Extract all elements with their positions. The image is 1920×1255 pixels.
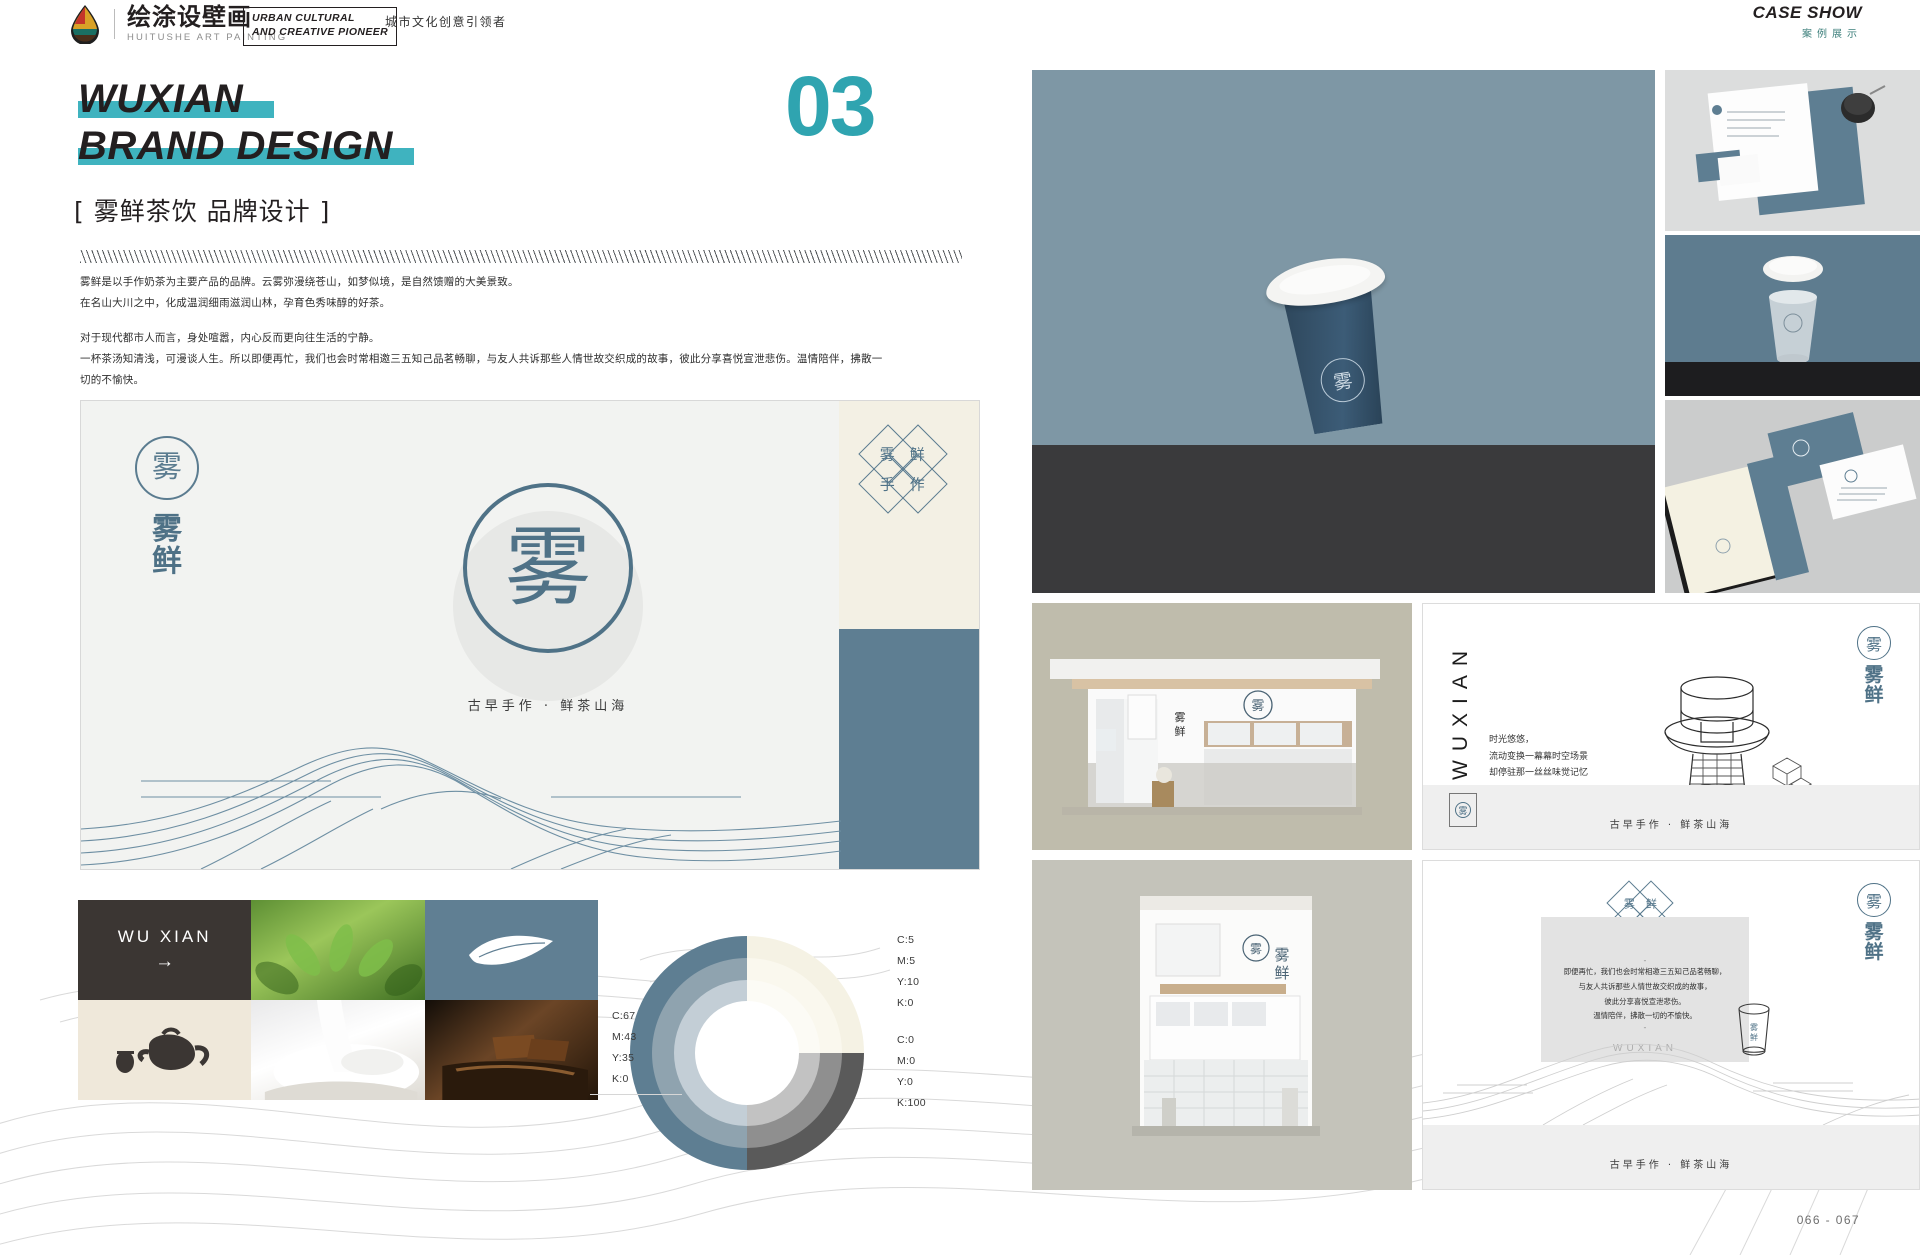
hero-blue-panel xyxy=(839,629,979,869)
svg-text:雾: 雾 xyxy=(1274,946,1289,964)
svg-text:雾: 雾 xyxy=(1175,711,1186,724)
takeaway-cup: 雾 xyxy=(1260,237,1407,438)
page-header: 绘涂设壁画 HUITUSHE ART PAINTING URBAN CULTUR… xyxy=(0,0,1920,50)
storefront-elevation-shapes: 雾 雾 鲜 xyxy=(1032,603,1412,850)
card-poem: 时光悠悠， 流动变换一幕幕时空场景 却停驻那一丝丝味觉记忆 xyxy=(1489,732,1588,782)
mockup-notebook-cards xyxy=(1665,400,1920,593)
hero-mini-logo: 雾 雾 鲜 xyxy=(121,436,213,577)
slogan-box: URBAN CULTURAL AND CREATIVE PIONEER xyxy=(243,7,397,46)
arrow-right-icon: → xyxy=(155,951,174,973)
hatched-divider xyxy=(80,250,962,263)
wuxian-wordmark-text: WU XIAN xyxy=(118,927,212,947)
body-copy: 雾鲜是以手作奶茶为主要产品的品牌。云雾弥漫绕苍山，如梦似境，是自然馈赠的大美景致… xyxy=(80,272,960,405)
storefront-facade-shapes: 雾 雾 鲜 xyxy=(1032,860,1412,1190)
section-number: 03 xyxy=(785,58,874,155)
leader-line-left xyxy=(590,1094,682,1095)
hero-diamond-lockup: 雾 鲜 手 作 xyxy=(867,433,951,517)
mockup-takeaway-cup: 雾 xyxy=(1032,70,1655,593)
body-paragraph-1: 雾鲜是以手作奶茶为主要产品的品牌。云雾弥漫绕苍山，如梦似境，是自然馈赠的大美景致… xyxy=(80,272,960,314)
card-brand-quote: 雾 鲜 手 作 - 即便再忙，我们也会时常相邀三五知己品茗畅聊， 与友人共诉那些… xyxy=(1422,860,1920,1190)
card-seal-icon: 雾 xyxy=(1857,626,1891,660)
stationery-shapes xyxy=(1665,70,1920,231)
slogan-en-line1: URBAN CULTURAL xyxy=(252,12,388,26)
tile-teapot-icon xyxy=(78,1000,251,1100)
swatch-label-black: C:0 M:0 Y:0 K:100 xyxy=(897,1030,926,1114)
svg-text:鲜: 鲜 xyxy=(1274,964,1289,982)
mockup-cold-cup xyxy=(1665,235,1920,396)
page-title: WUXIAN BRAND DESIGN xyxy=(78,78,393,172)
svg-text:雾: 雾 xyxy=(1251,699,1264,714)
tile-wuxian-wordmark: WU XIAN → xyxy=(78,900,251,1000)
tile-brown-sugar-photo xyxy=(425,1000,598,1100)
mood-board-grid: WU XIAN → xyxy=(78,900,598,1100)
page-subtitle: [ 雾鲜茶饮 品牌设计 ] xyxy=(74,192,330,228)
tile-milk-pour-photo xyxy=(251,1000,424,1100)
svg-text:雾: 雾 xyxy=(1750,1023,1758,1032)
cold-cup-floor xyxy=(1665,362,1920,396)
calligraphy-brandname: 雾 鲜 xyxy=(121,514,213,577)
card-seal-lockup: 雾 雾 鲜 xyxy=(1857,626,1891,706)
vertical-wordmark: WUXIAN xyxy=(1449,642,1473,780)
tile-leaf-icon xyxy=(425,900,598,1000)
quote-card-calligraphy: 雾 鲜 xyxy=(1857,923,1891,963)
milk-pour-shapes xyxy=(251,1000,424,1100)
mockup-stationery-flatlay xyxy=(1665,70,1920,231)
page-number: 066 - 067 xyxy=(1797,1213,1860,1227)
case-show-badge: CASE SHOW 案例展示 xyxy=(1753,3,1862,40)
slogan-cn: 城市文化创意引领者 xyxy=(385,13,507,30)
title-line-2: BRAND DESIGN xyxy=(78,125,393,168)
logo-divider xyxy=(114,9,115,39)
card-footer-tagline: 古早手作 · 鲜茶山海 xyxy=(1423,816,1919,831)
tile-tea-field-photo xyxy=(251,900,424,1000)
title-line-1: WUXIAN xyxy=(78,78,243,121)
slogan-en-line2: AND CREATIVE PIONEER xyxy=(252,26,388,40)
tea-leaf-shapes xyxy=(251,900,424,1000)
mountain-line-art xyxy=(81,679,841,869)
quote-card-seal-icon: 雾 xyxy=(1857,883,1891,917)
case-show-en: CASE SHOW xyxy=(1753,3,1862,23)
mockup-storefront-facade: 雾 雾 鲜 xyxy=(1032,860,1412,1190)
cup-seal-logo: 雾 xyxy=(1318,355,1368,405)
quote-card-footer-tagline: 古早手作 · 鲜茶山海 xyxy=(1423,1156,1919,1171)
case-show-cn: 案例展示 xyxy=(1753,25,1862,40)
primary-seal-logo: 雾 xyxy=(463,483,633,653)
swatch-label-blue: C:67 M:43 Y:35 K:0 xyxy=(612,1006,682,1090)
teapot-icon xyxy=(113,1024,217,1076)
card-wuxian-illustration: WUXIAN 时光悠悠， 流动变换一幕幕时空场景 却停驻那一丝丝味觉记忆 雾 雾… xyxy=(1422,603,1920,850)
left-content-column: WUXIAN BRAND DESIGN [ 雾鲜茶饮 品牌设计 ] 03 雾鲜是… xyxy=(0,0,1020,1255)
card-mountain-line-art xyxy=(1423,1033,1920,1125)
quote-card-seal-lockup: 雾 雾 鲜 xyxy=(1857,883,1891,963)
mockup-gallery: 雾 xyxy=(1032,0,1920,1255)
brand-hero-banner: 雾 雾 鲜 雾 鲜 手 作 雾 古早手作 · 鲜茶山海 xyxy=(80,400,980,870)
svg-text:雾: 雾 xyxy=(1250,942,1262,956)
mockup-floor xyxy=(1032,445,1655,593)
paint-drop-icon xyxy=(68,4,102,44)
seal-logo-icon: 雾 xyxy=(135,436,199,500)
card-calligraphy: 雾 鲜 xyxy=(1857,666,1891,706)
body-paragraph-2: 对于现代都市人而言，身处喧嚣，内心反而更向往生活的宁静。 一杯茶汤知清浅，可漫谈… xyxy=(80,328,960,391)
notebook-card-shapes xyxy=(1665,400,1920,593)
donut-hole xyxy=(695,1001,799,1105)
sugar-block-shapes xyxy=(425,1000,598,1100)
leaf-icon xyxy=(465,929,557,971)
color-palette-chart: C:67 M:43 Y:35 K:0 C:5 M:5 Y:10 K:0 C:0 … xyxy=(612,918,1012,1188)
mockup-storefront-elevation: 雾 雾 鲜 xyxy=(1032,603,1412,850)
svg-text:鲜: 鲜 xyxy=(1175,724,1186,738)
swatch-label-cream: C:5 M:5 Y:10 K:0 xyxy=(897,930,919,1014)
